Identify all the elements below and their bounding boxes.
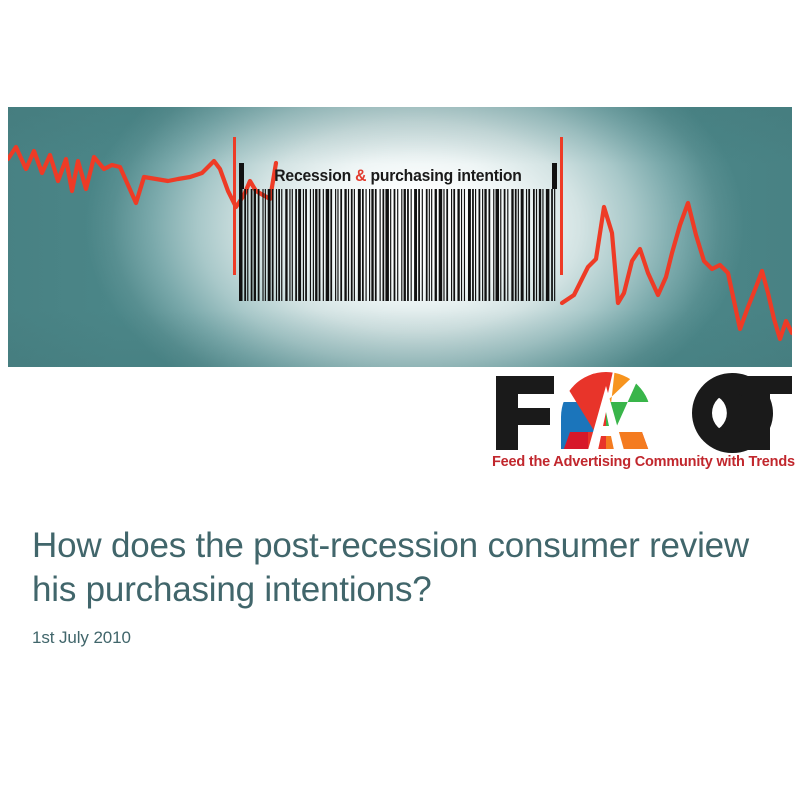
barcode-bar [244, 189, 246, 301]
barcode-bar [272, 189, 274, 301]
barcode-bar [310, 189, 311, 301]
barcode-bar [451, 189, 452, 301]
barcode-bar [464, 189, 465, 301]
barcode-bar [278, 189, 280, 301]
barcode-bar [276, 189, 277, 301]
barcode-bar [518, 189, 519, 301]
barcode-bar [285, 189, 287, 301]
barcode-bar [526, 189, 527, 301]
fact-letter-f [496, 376, 554, 450]
barcode-right-red-line [560, 137, 563, 275]
barcode-bar [397, 189, 398, 301]
fact-wordmark [492, 372, 792, 454]
barcode-bar [295, 189, 297, 301]
barcode-bar [369, 189, 370, 301]
barcode-bar [247, 189, 248, 301]
barcode-bar [265, 189, 266, 301]
barcode-bar [335, 189, 336, 301]
barcode-bar [303, 189, 304, 301]
barcode-bar [479, 189, 481, 301]
barcode-bar [482, 189, 483, 301]
barcode-bar [443, 189, 444, 301]
barcode-title-right-endbar [552, 163, 557, 189]
barcode-bar [326, 189, 330, 301]
trend-line-left-segment [8, 147, 256, 207]
barcode-bar [404, 189, 406, 301]
barcode-bar [533, 189, 535, 301]
barcode-bar [426, 189, 428, 301]
barcode-bar [262, 189, 263, 301]
barcode-bar [439, 189, 443, 301]
barcode-graphic: Recession & purchasing intention [239, 163, 557, 301]
barcode-bar [488, 189, 490, 301]
barcode-title-ampersand: & [355, 167, 366, 185]
barcode-bar [407, 189, 409, 301]
barcode-bar [453, 189, 455, 301]
barcode-bar [539, 189, 541, 301]
barcode-bar [289, 189, 290, 301]
barcode-bar [554, 189, 555, 301]
barcode-bar [354, 189, 355, 301]
barcode-bar [313, 189, 314, 301]
barcode-bar [371, 189, 373, 301]
barcode-bar [542, 189, 543, 301]
barcode-bar [536, 189, 537, 301]
barcode-bar [281, 189, 282, 301]
barcode-bar [344, 189, 346, 301]
barcode-bar [504, 189, 506, 301]
barcode-bar [401, 189, 402, 301]
barcode-bar [382, 189, 384, 301]
barcode-left-red-line [233, 137, 236, 275]
barcode-bar [507, 189, 508, 301]
barcode-bar [305, 189, 307, 301]
barcode-bar [375, 189, 377, 301]
barcode-bar [472, 189, 474, 301]
barcode-bar [340, 189, 342, 301]
barcode-bar [411, 189, 412, 301]
barcode-bar [515, 189, 517, 301]
barcode-bar [348, 189, 349, 301]
barcode-bar [496, 189, 500, 301]
barcode-bar [457, 189, 459, 301]
barcode-bar [258, 189, 260, 301]
barcode-bar [351, 189, 353, 301]
title-block: How does the post-recession consumer rev… [32, 524, 772, 648]
barcode-bar [319, 189, 321, 301]
barcode-bar [385, 189, 389, 301]
barcode-bar [315, 189, 317, 301]
barcode-bar [431, 189, 432, 301]
barcode-title-suffix: purchasing intention [366, 167, 521, 185]
barcode-bar [358, 189, 361, 301]
barcode-bar [461, 189, 462, 301]
barcode-bar [380, 189, 381, 301]
barcode-bar [521, 189, 524, 301]
barcode-bar [323, 189, 324, 301]
barcode-title-left-endbar [239, 163, 244, 189]
barcode-bar [414, 189, 417, 301]
barcode-title-row: Recession & purchasing intention [239, 163, 557, 189]
barcode-bar [468, 189, 471, 301]
barcode-bar [484, 189, 486, 301]
fact-letter-a-mark [552, 372, 664, 454]
barcode-bar [239, 189, 243, 301]
fact-logo: Feed the Advertising Community with Tren… [492, 372, 792, 477]
barcode-title-prefix: Recession [274, 167, 355, 185]
page-title: How does the post-recession consumer rev… [32, 524, 772, 612]
barcode-bar [362, 189, 364, 301]
barcode-bar [528, 189, 530, 301]
barcode-bar [435, 189, 437, 301]
barcode-bar [546, 189, 550, 301]
presentation-slide: Recession & purchasing intention [0, 0, 800, 800]
barcode-bar [330, 189, 332, 301]
barcode-bars [239, 189, 557, 301]
barcode-bar [418, 189, 420, 301]
barcode-bar [292, 189, 293, 301]
barcode-bar [390, 189, 391, 301]
barcode-bar [429, 189, 430, 301]
barcode-bar [394, 189, 396, 301]
barcode-bar [500, 189, 501, 301]
barcode-bar [268, 189, 271, 301]
barcode-bar [422, 189, 423, 301]
barcode-title-text: Recession & purchasing intention [252, 163, 545, 189]
barcode-bar [254, 189, 256, 301]
fact-tagline: Feed the Advertising Community with Tren… [492, 454, 792, 470]
barcode-bar [511, 189, 513, 301]
barcode-bar [251, 189, 253, 301]
trend-line-right-segment [562, 203, 792, 339]
barcode-bar [366, 189, 367, 301]
barcode-bar [475, 189, 476, 301]
barcode-bar [551, 189, 553, 301]
barcode-bar [493, 189, 494, 301]
slide-date: 1st July 2010 [32, 628, 772, 648]
barcode-bar [337, 189, 338, 301]
barcode-bar [298, 189, 301, 301]
barcode-bar [446, 189, 448, 301]
